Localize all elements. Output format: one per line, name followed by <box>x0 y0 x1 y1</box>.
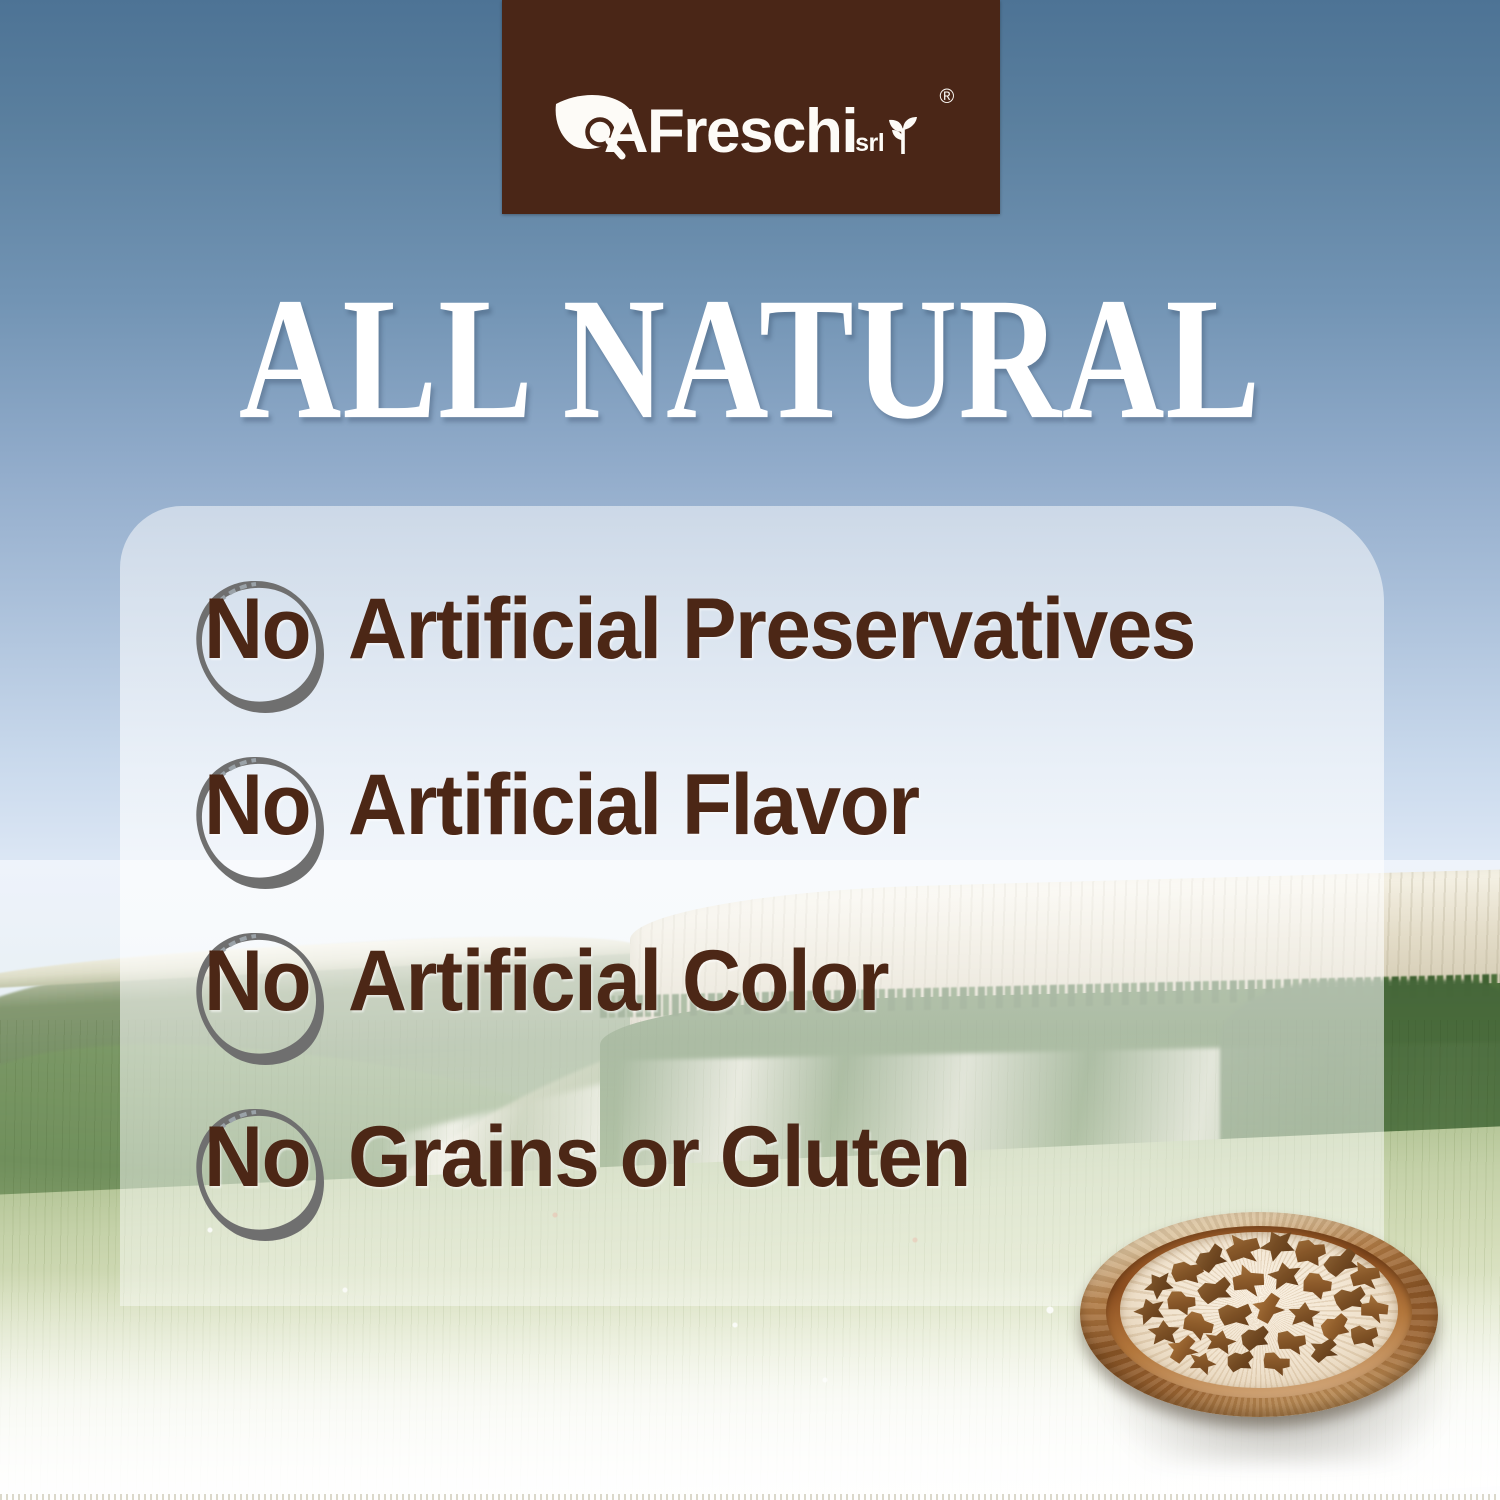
claim-label: NoArtificial Flavor <box>204 762 919 848</box>
treat-piece <box>1249 1290 1288 1328</box>
claim-body: Artificial Color <box>348 933 888 1029</box>
brand-logo-bar: AFreschi srl ® <box>502 0 1000 214</box>
treat-piece <box>1287 1301 1321 1330</box>
treat-piece <box>1228 1263 1268 1301</box>
page-title: ALL NATURAL <box>30 272 1470 447</box>
claims-list: NoArtificial Preservatives NoArtificial … <box>182 560 1382 1264</box>
treat-piece <box>1147 1319 1180 1347</box>
claim-prefix: No <box>204 581 310 677</box>
claim-label: NoArtificial Preservatives <box>204 586 1195 672</box>
brand-suffix: srl <box>855 129 884 158</box>
treat-piece <box>1316 1308 1355 1345</box>
claim-body: Artificial Flavor <box>348 757 919 853</box>
treat-piece <box>1195 1274 1235 1308</box>
claim-body: Artificial Preservatives <box>348 581 1195 677</box>
treat-piece <box>1255 1223 1301 1266</box>
treat-piece <box>1218 1302 1252 1329</box>
dog-treats-on-wooden-plate <box>1062 1170 1498 1500</box>
brand-name: AFreschi <box>604 103 857 160</box>
treat-piece <box>1266 1259 1305 1293</box>
sprout-icon <box>886 114 920 154</box>
claim-prefix: No <box>204 1109 310 1205</box>
list-item: NoArtificial Preservatives <box>182 560 1382 736</box>
treat-piece <box>1225 1234 1262 1265</box>
claim-label: NoArtificial Color <box>204 938 888 1024</box>
registered-trademark-symbol: ® <box>939 86 954 109</box>
product-feature-poster: AFreschi srl ® ALL NATURAL <box>0 0 1500 1500</box>
claim-prefix: No <box>204 933 310 1029</box>
claim-prefix: No <box>204 757 310 853</box>
treat-piece <box>1292 1235 1328 1268</box>
treat-piece <box>1237 1322 1273 1355</box>
treat-piece <box>1273 1326 1309 1358</box>
treat-pile <box>1122 1202 1402 1372</box>
claim-label: NoGrains or Gluten <box>204 1114 970 1200</box>
list-item: NoArtificial Flavor <box>182 736 1382 912</box>
brand-logo: AFreschi srl ® <box>552 88 950 160</box>
treat-piece <box>1224 1347 1256 1374</box>
list-item: NoArtificial Color <box>182 912 1382 1088</box>
bottom-hairline <box>0 1494 1500 1500</box>
treat-piece <box>1348 1322 1379 1350</box>
claim-body: Grains or Gluten <box>348 1109 970 1205</box>
treat-piece <box>1308 1337 1341 1366</box>
